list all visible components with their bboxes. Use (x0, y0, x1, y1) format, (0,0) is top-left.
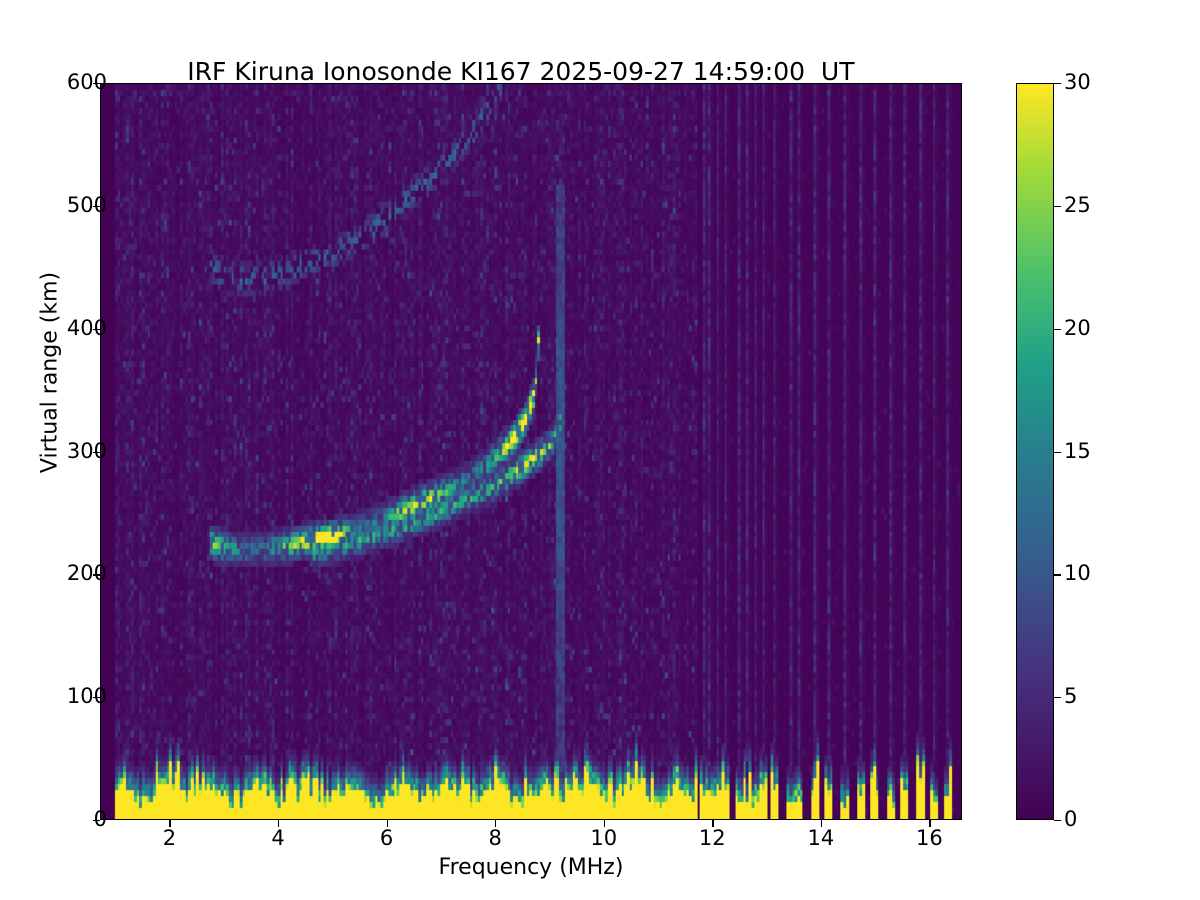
y-tick-label: 200 (0, 563, 107, 584)
x-tick-mark (495, 820, 496, 827)
colorbar-tick-label: 0 (1064, 809, 1134, 830)
y-tick-label: 600 (0, 72, 107, 93)
y-tick-mark (93, 697, 100, 698)
title-line-1: IRF Kiruna Ionosonde KI167 2025-09-27 14… (187, 57, 854, 86)
y-tick-label: 100 (0, 686, 107, 707)
x-tick-mark (821, 820, 822, 827)
colorbar-tick-mark (1054, 697, 1061, 698)
y-tick-mark (93, 820, 100, 821)
x-tick-mark (387, 820, 388, 827)
x-tick-mark (712, 820, 713, 827)
y-axis-label: Virtual range (km) (38, 223, 63, 523)
x-tick-mark (169, 820, 170, 827)
y-tick-mark (93, 452, 100, 453)
colorbar-tick-label: 20 (1064, 318, 1134, 339)
colorbar-tick-mark (1054, 574, 1061, 575)
y-tick-mark (93, 83, 100, 84)
x-tick-label: 4 (238, 828, 318, 849)
colorbar-tick-mark (1054, 206, 1061, 207)
x-tick-label: 12 (672, 828, 752, 849)
x-tick-label: 14 (781, 828, 861, 849)
x-tick-mark (604, 820, 605, 827)
y-tick-label: 500 (0, 195, 107, 216)
x-axis-label: Frequency (MHz) (100, 855, 962, 880)
colorbar-tick-mark (1054, 820, 1061, 821)
colorbar (1016, 83, 1054, 820)
y-tick-mark (93, 206, 100, 207)
colorbar-tick-mark (1054, 83, 1061, 84)
x-tick-label: 6 (347, 828, 427, 849)
colorbar-tick-mark (1054, 452, 1061, 453)
x-tick-label: 2 (129, 828, 209, 849)
x-tick-label: 10 (564, 828, 644, 849)
x-tick-mark (278, 820, 279, 827)
colorbar-tick-label: 15 (1064, 441, 1134, 462)
ionogram-axes (100, 83, 962, 820)
colorbar-tick-label: 10 (1064, 563, 1134, 584)
x-tick-mark (929, 820, 930, 827)
ionogram-heatmap (101, 84, 961, 819)
ionogram-figure: IRF Kiruna Ionosonde KI167 2025-09-27 14… (0, 0, 1200, 900)
colorbar-tick-mark (1054, 329, 1061, 330)
colorbar-tick-label: 25 (1064, 195, 1134, 216)
colorbar-tick-label: 5 (1064, 686, 1134, 707)
colorbar-tick-label: 30 (1064, 72, 1134, 93)
y-tick-mark (93, 329, 100, 330)
y-tick-label: 0 (0, 809, 107, 830)
y-tick-mark (93, 574, 100, 575)
x-tick-label: 16 (889, 828, 969, 849)
x-tick-label: 8 (455, 828, 535, 849)
